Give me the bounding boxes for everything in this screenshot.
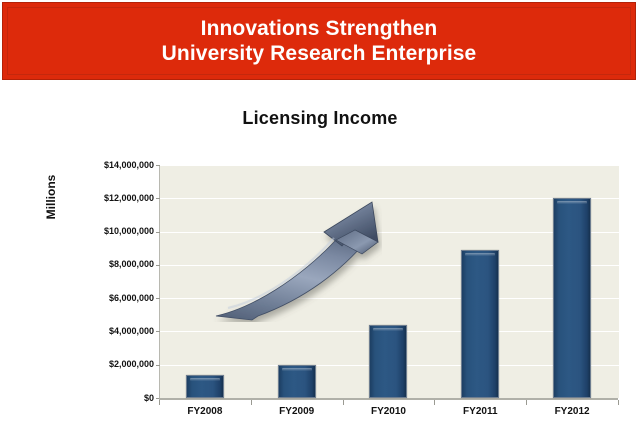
- x-axis-tick-labels: FY2008FY2009FY2010FY2011FY2012: [159, 406, 618, 417]
- bar-fy2011[interactable]: [461, 250, 499, 398]
- x-axis-tick-mark: [343, 400, 344, 405]
- bar-slot: [526, 165, 618, 398]
- bar-slot: [159, 165, 251, 398]
- x-axis-tick-label: FY2011: [434, 406, 526, 417]
- bar-series: [159, 165, 618, 398]
- x-axis-tick-mark: [159, 400, 160, 405]
- bar-slot: [251, 165, 343, 398]
- y-axis-tick-label: $2,000,000: [72, 360, 154, 369]
- chart-title: Licensing Income: [0, 108, 640, 129]
- bar-fy2010[interactable]: [369, 325, 407, 398]
- bar-slot: [434, 165, 526, 398]
- y-axis-tick-labels: $0$2,000,000$4,000,000$6,000,000$8,000,0…: [72, 158, 154, 404]
- y-axis-tick-label: $6,000,000: [72, 294, 154, 303]
- y-axis-tick-label: $8,000,000: [72, 260, 154, 269]
- x-axis-tick-label: FY2010: [343, 406, 435, 417]
- y-axis-tick-label: $14,000,000: [72, 161, 154, 170]
- licensing-income-chart: Licensing Income Millions $0$2,000,000$4…: [0, 0, 640, 429]
- slide-canvas: Innovations Strengthen University Resear…: [0, 0, 640, 429]
- y-axis-tick-label: $10,000,000: [72, 227, 154, 236]
- x-axis-tick-label: FY2012: [526, 406, 618, 417]
- bar-fy2012[interactable]: [553, 198, 591, 398]
- x-axis-tick-mark: [526, 400, 527, 405]
- y-axis-tick-label: $0: [72, 394, 154, 403]
- x-axis-tick-mark: [618, 400, 619, 405]
- y-axis-caption: Millions: [44, 142, 64, 252]
- bar-slot: [343, 165, 435, 398]
- y-axis-tick-label: $4,000,000: [72, 327, 154, 336]
- bar-fy2008[interactable]: [186, 375, 224, 398]
- x-axis-tick-mark: [251, 400, 252, 405]
- x-axis-tick-label: FY2008: [159, 406, 251, 417]
- y-axis-tick-label: $12,000,000: [72, 194, 154, 203]
- bar-fy2009[interactable]: [278, 365, 316, 398]
- category-tick-marks: [159, 400, 618, 405]
- x-axis-tick-mark: [434, 400, 435, 405]
- x-axis-tick-label: FY2009: [251, 406, 343, 417]
